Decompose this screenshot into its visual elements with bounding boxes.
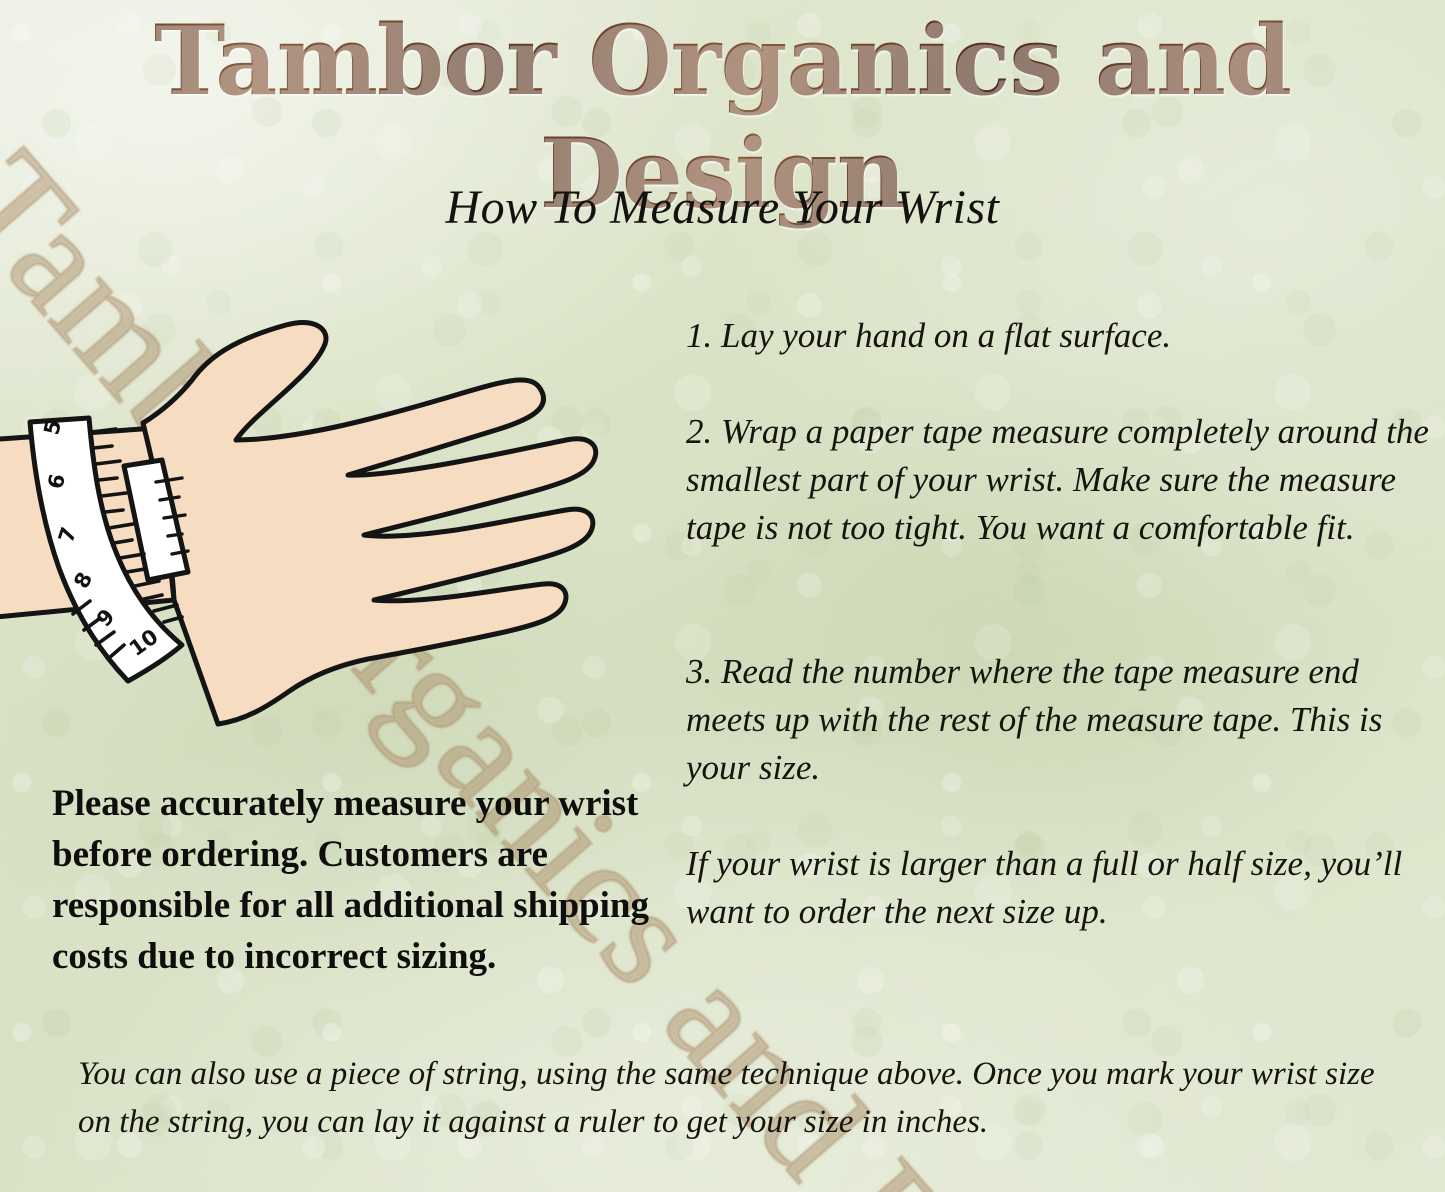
instruction-step-3: 3. Read the number where the tape measur… bbox=[686, 648, 1445, 792]
instruction-step-1: 1. Lay your hand on a flat surface. bbox=[686, 312, 1445, 360]
page-subtitle: How To Measure Your Wrist bbox=[0, 180, 1445, 235]
sizing-warning-text: Please accurately measure your wrist bef… bbox=[52, 778, 652, 982]
hand-shape bbox=[143, 323, 596, 724]
hand-with-tape-measure-illustration: 5 6 7 8 9 10 bbox=[0, 300, 616, 770]
instruction-size-up-note: If your wrist is larger than a full or h… bbox=[686, 840, 1445, 936]
instruction-step-2: 2. Wrap a paper tape measure completely … bbox=[686, 408, 1445, 552]
wrist-measuring-guide-page: Tambor Organics and Design Tambor Organi… bbox=[0, 0, 1445, 1192]
string-method-tip: You can also use a piece of string, usin… bbox=[78, 1050, 1378, 1146]
